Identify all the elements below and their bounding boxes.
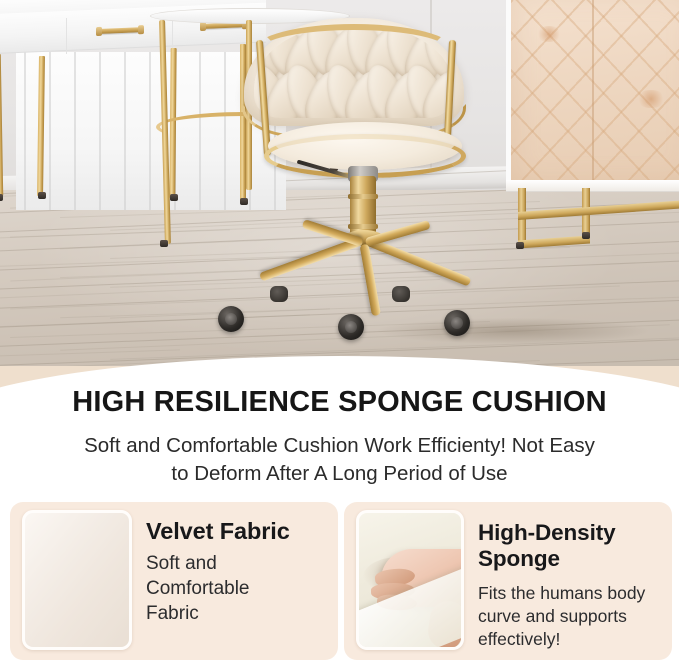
subheadline-line-1: Soft and Comfortable Cushion Work Effici… [38, 432, 641, 460]
card-text-block: Velvet Fabric Soft and Comfortable Fabri… [132, 502, 300, 626]
caster-wheel [338, 314, 364, 340]
hero-product-photo [0, 0, 679, 392]
cabinet-door-seam [592, 0, 594, 186]
card-body-line: curve and supports [478, 605, 662, 628]
chair-floor-shadow [378, 318, 648, 344]
caster-wheel [270, 286, 288, 302]
card-body-line: effectively! [478, 628, 662, 651]
wood-knot [636, 90, 666, 108]
card-title: High-Density Sponge [478, 520, 662, 572]
base-spoke [360, 244, 381, 316]
card-body-line: Soft and [146, 551, 290, 576]
cabinet-stand-rail [518, 235, 590, 248]
chair-back-gold-arc [254, 24, 454, 76]
cabinet-plinth [506, 180, 679, 192]
velvet-office-chair [196, 18, 496, 348]
cabinet-foot [516, 242, 524, 249]
caster-wheel [218, 306, 244, 332]
feature-card-velvet-fabric: Velvet Fabric Soft and Comfortable Fabri… [10, 502, 338, 660]
cabinet-foot [582, 232, 590, 239]
card-body: Fits the humans body curve and supports … [478, 582, 662, 651]
chevron-wood-cabinet [496, 0, 679, 254]
card-body-line: Fabric [146, 601, 290, 626]
base-spoke [364, 236, 471, 286]
drawer-divider [66, 18, 67, 54]
feature-cards: Velvet Fabric Soft and Comfortable Fabri… [0, 502, 679, 662]
section-subheadline: Soft and Comfortable Cushion Work Effici… [38, 432, 641, 488]
caster-wheel [392, 286, 410, 302]
desk-foot [0, 194, 3, 201]
product-feature-page: HIGH RESILIENCE SPONGE CUSHION Soft and … [0, 0, 679, 664]
card-body-line: Comfortable [146, 576, 290, 601]
card-body-line: Fits the humans body [478, 582, 662, 605]
hand-pressing-foam-photo [356, 510, 464, 650]
side-table-foot [160, 240, 168, 247]
subheadline-line-2: to Deform After A Long Period of Use [38, 460, 641, 488]
caster-wheel [444, 310, 470, 336]
cylinder-band [348, 224, 378, 229]
base-spoke [259, 236, 364, 281]
desk-leg [0, 54, 3, 196]
card-title: Velvet Fabric [146, 518, 290, 544]
velvet-fabric-swatch [22, 510, 132, 650]
card-body: Soft and Comfortable Fabric [146, 551, 290, 626]
desk-foot [38, 192, 46, 199]
feature-card-high-density-sponge: High-Density Sponge Fits the humans body… [344, 502, 672, 660]
desk-rail [0, 64, 42, 70]
card-text-block: High-Density Sponge Fits the humans body… [464, 502, 672, 651]
cabinet-stand-rail [518, 200, 679, 220]
section-headline: HIGH RESILIENCE SPONGE CUSHION [0, 386, 679, 418]
wood-knot [536, 26, 562, 42]
cylinder-band [348, 194, 378, 199]
